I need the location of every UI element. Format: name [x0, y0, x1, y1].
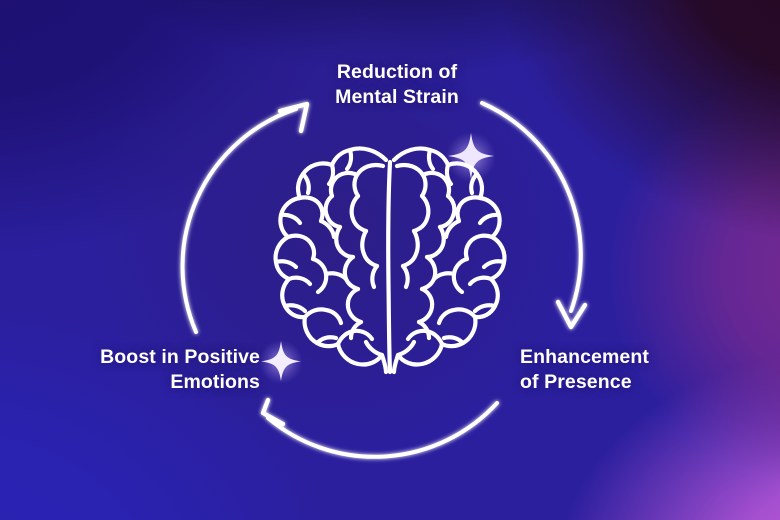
- node-label-reduction-of-mental-strain: Reduction of Mental Strain: [252, 60, 542, 110]
- sparkle-lower-left-icon: [259, 340, 303, 384]
- node-label-enhancement-of-presence: Enhancement of Presence: [520, 345, 720, 395]
- arrow-left-to-top: [183, 104, 307, 332]
- brain-icon: [276, 148, 505, 372]
- infographic-canvas: Reduction of Mental Strain Enhancement o…: [0, 0, 780, 520]
- node-label-boost-in-positive-emotions: Boost in Positive Emotions: [60, 345, 260, 395]
- arrow-right-to-left: [263, 400, 497, 457]
- brain-right-hemisphere: [394, 148, 504, 372]
- brain-left-hemisphere: [276, 148, 386, 372]
- sparkle-upper-right-icon: [446, 132, 496, 182]
- brain-fissure: [388, 162, 390, 372]
